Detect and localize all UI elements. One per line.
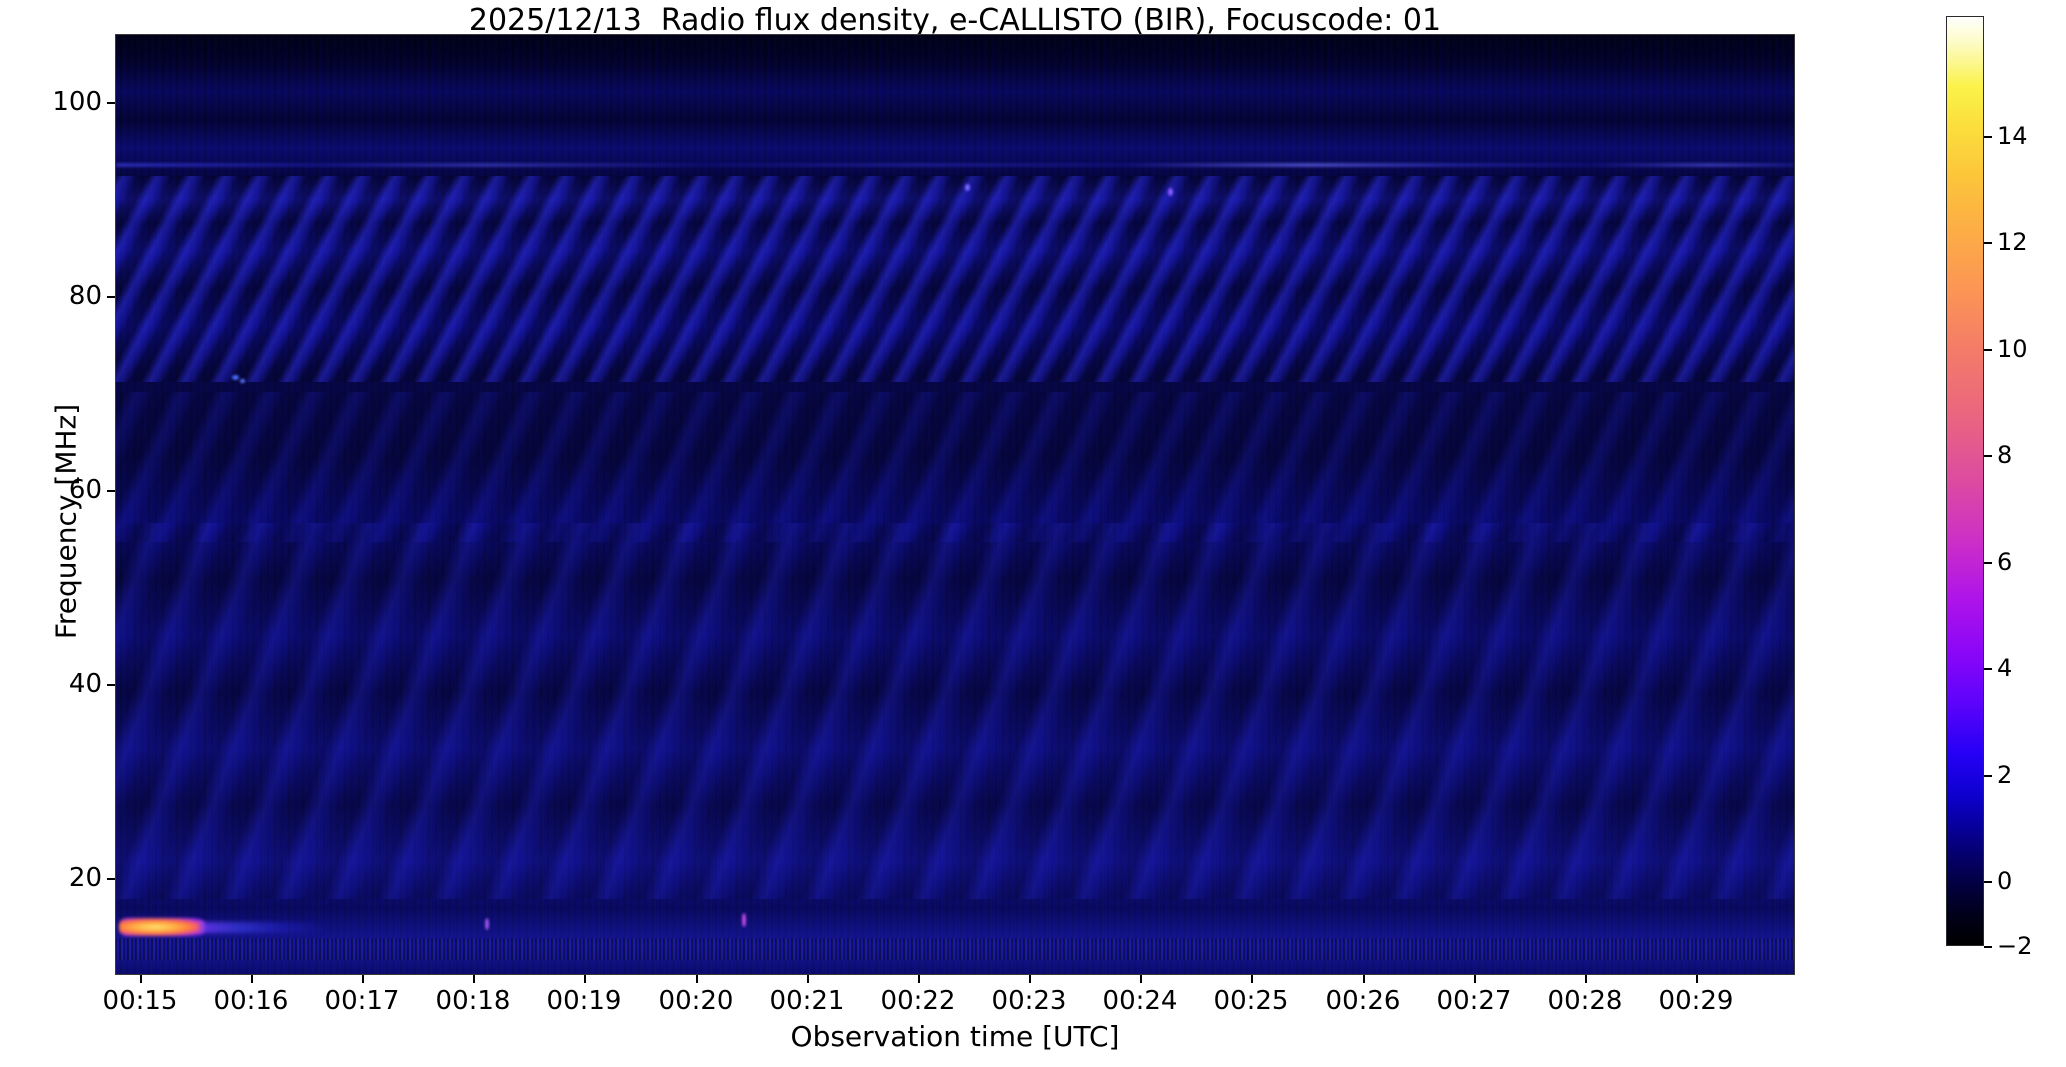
ytick-mark-40 [107,684,115,686]
xtick-mark-0018 [473,975,475,983]
rfi-horizontal-line-88mhz [116,163,1794,167]
xtick-label-0024: 00:24 [1103,986,1178,1016]
colorbar-tick-mark-2 [1984,775,1992,777]
colorbar-tick-label-6: 6 [1997,548,2012,576]
xtick-label-0017: 00:17 [325,986,400,1016]
colorbar-tick-mark-4 [1984,668,1992,670]
xtick-label-0015: 00:15 [103,986,178,1016]
y-axis-label: Frequency [MHz] [50,172,83,872]
xtick-label-0029: 00:29 [1659,986,1734,1016]
diagonal-drift-stripes-upper [116,176,1794,383]
colorbar-tick-mark-8 [1984,455,1992,457]
low-band-edge-noise [116,938,1794,960]
xtick-mark-0019 [584,975,586,983]
xtick-label-0019: 00:19 [547,986,622,1016]
diagonal-drift-stripes-lower [116,523,1794,899]
x-axis-label: Observation time [UTC] [115,1020,1795,1053]
colorbar-tick-label-12: 12 [1997,228,2028,256]
xtick-mark-0024 [1140,975,1142,983]
colorbar-tick-label-10: 10 [1997,335,2028,363]
colorbar-gradient [1946,16,1984,946]
spectrogram-figure: 2025/12/13 Radio flux density, e-CALLIST… [0,0,2066,1067]
bright-pixel-blip [742,913,746,927]
colorbar-tick-mark-6 [1984,562,1992,564]
xtick-mark-0026 [1363,975,1365,983]
colorbar-tick-mark-10 [1984,349,1992,351]
ytick-mark-20 [107,878,115,880]
colorbar-tick-label-2: 2 [1997,761,2012,789]
ytick-label-100: 100 [0,87,102,117]
colorbar-tick-label-14: 14 [1997,122,2028,150]
xtick-label-0023: 00:23 [992,986,1067,1016]
colorbar-tick-mark-minus2 [1984,946,1992,948]
solar-radio-burst [119,918,205,936]
xtick-label-0016: 00:16 [214,986,289,1016]
xtick-label-0022: 00:22 [881,986,956,1016]
colorbar-tick-mark-12 [1984,242,1992,244]
xtick-mark-0029 [1696,975,1698,983]
xtick-mark-0016 [251,975,253,983]
colorbar-tick-label-minus2: −2 [1997,932,2032,960]
diagonal-drift-stripes-mid [116,392,1794,542]
xtick-mark-0017 [362,975,364,983]
xtick-label-0025: 00:25 [1214,986,1289,1016]
xtick-label-0027: 00:27 [1437,986,1512,1016]
xtick-mark-0023 [1029,975,1031,983]
xtick-mark-0025 [1251,975,1253,983]
xtick-label-0018: 00:18 [436,986,511,1016]
xtick-mark-0027 [1474,975,1476,983]
xtick-label-0021: 00:21 [770,986,845,1016]
xtick-label-0026: 00:26 [1326,986,1401,1016]
solar-radio-burst-tail [200,922,326,933]
colorbar-tick-mark-0 [1984,881,1992,883]
ytick-mark-60 [107,490,115,492]
page-title: 2025/12/13 Radio flux density, e-CALLIST… [115,3,1795,38]
xtick-mark-0022 [918,975,920,983]
bright-pixel-blip [485,918,489,930]
colorbar-tick-label-8: 8 [1997,441,2012,469]
colorbar-tick-mark-14 [1984,136,1992,138]
xtick-mark-0020 [696,975,698,983]
ytick-mark-100 [107,102,115,104]
xtick-label-0020: 00:20 [659,986,734,1016]
xtick-mark-0028 [1585,975,1587,983]
colorbar-tick-label-0: 0 [1997,867,2012,895]
spectrogram-plot-area[interactable] [115,34,1795,975]
colorbar-tick-label-4: 4 [1997,654,2012,682]
xtick-mark-0015 [140,975,142,983]
xtick-label-0028: 00:28 [1548,986,1623,1016]
colorbar[interactable] [1946,16,1984,946]
xtick-mark-0021 [807,975,809,983]
ytick-mark-80 [107,296,115,298]
